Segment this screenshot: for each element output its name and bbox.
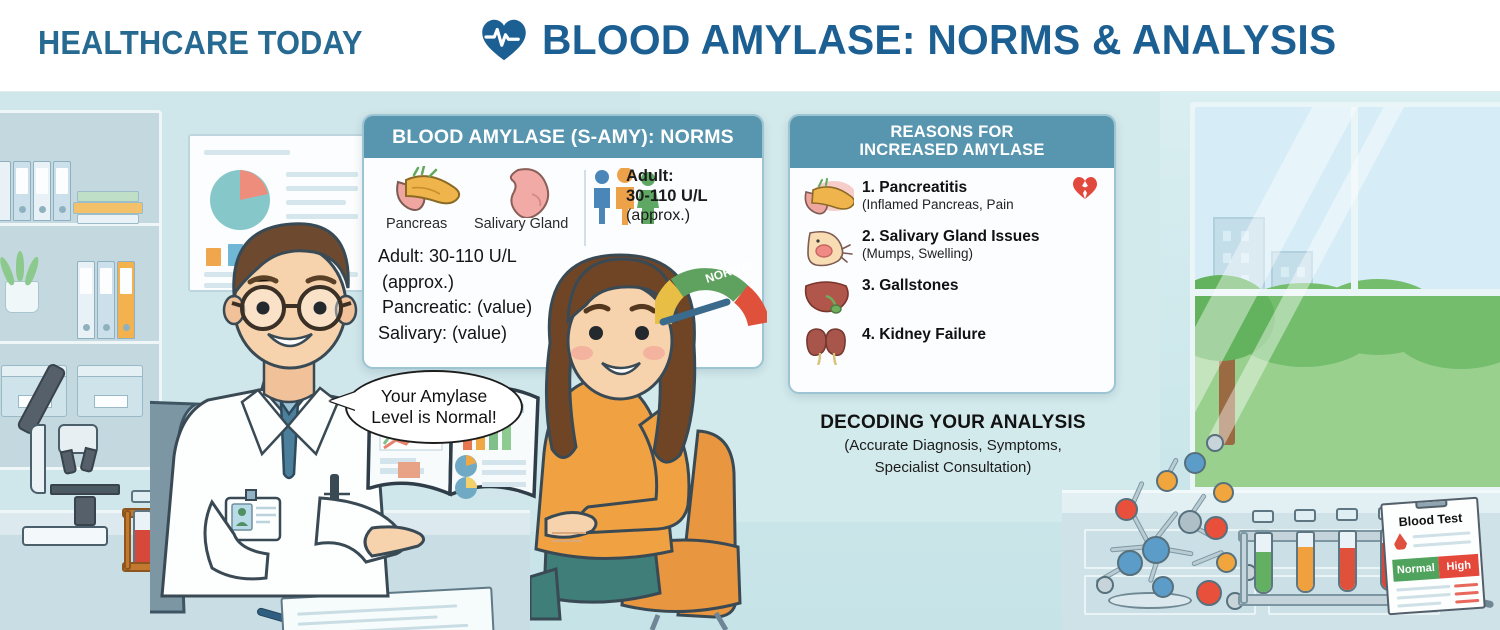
reason-item-pancreatitis: 1. Pancreatitis (Inflamed Pancreas, Pain [802, 178, 1104, 218]
amylase-gauge: NORMAL [655, 250, 767, 328]
page-title: BLOOD AMYLASE: NORMS & ANALYSIS [542, 16, 1336, 64]
binder [13, 161, 31, 221]
status-badge-high: High [1438, 554, 1479, 579]
page-header: HEALTHCARE TODAY BLOOD AMYLASE: NORMS & … [0, 0, 1500, 92]
panel-reasons-heading-line-2: INCREASED AMYLASE [790, 141, 1114, 159]
potted-plant [5, 281, 39, 313]
binder [53, 161, 71, 221]
illustration-scene: Blood Test Normal High [0, 92, 1500, 630]
blood-drop-icon [1393, 533, 1407, 551]
reason-item-salivary-gland: 2. Salivary Gland Issues (Mumps, Swellin… [802, 227, 1104, 267]
adult-range-note: (approx.) [626, 206, 708, 226]
clipboard-title: Blood Test [1383, 510, 1478, 531]
decoding-title: DECODING YOUR ANALYSIS [790, 412, 1116, 434]
storage-box [77, 365, 143, 417]
reason-title-text: Gallstones [879, 277, 958, 294]
broken-heart-icon [1072, 176, 1098, 200]
reason-item-gallstones: 3. Gallstones [802, 276, 1104, 316]
salivary-gland-icon [502, 166, 558, 218]
reason-title-text: Kidney Failure [879, 326, 986, 343]
reason-title-text: Pancreatitis [879, 179, 967, 196]
adult-range-title: Adult: [626, 166, 708, 186]
reason-num: 2. [862, 228, 875, 245]
reason-num: 3. [862, 277, 875, 294]
binder [77, 261, 95, 339]
reason-item-kidney-failure: 4. Kidney Failure [802, 325, 1104, 365]
reason-num: 1. [862, 179, 875, 196]
speech-bubble-line-1: Your Amylase [381, 386, 487, 407]
binder [97, 261, 115, 339]
reason-sub-text: (Inflamed Pancreas, Pain [862, 197, 1014, 213]
kidneys-icon [802, 325, 854, 365]
reason-title-text: Salivary Gland Issues [879, 228, 1039, 245]
main-title-group: BLOOD AMYLASE: NORMS & ANALYSIS [480, 16, 1361, 64]
speech-bubble-line-2: Level is Normal! [371, 407, 496, 428]
panel-divider [584, 170, 586, 246]
pancreas-inflamed-icon [802, 178, 854, 218]
panel-reasons-increased-amylase: REASONS FOR INCREASED AMYLASE 1. Pancrea… [788, 114, 1116, 394]
book [77, 214, 139, 224]
speech-bubble-tail [330, 392, 356, 410]
heart-pulse-icon [480, 17, 528, 63]
book [77, 191, 139, 202]
book [73, 202, 143, 214]
decoding-sub-line-1: (Accurate Diagnosis, Symptoms, [790, 437, 1116, 456]
head-mumps-icon [802, 227, 854, 267]
binder [0, 161, 11, 221]
adult-range-value: 30-110 U/L [626, 186, 708, 206]
window [1190, 102, 1500, 492]
liver-gallbladder-icon [802, 276, 854, 316]
panel-reasons-heading-line-1: REASONS FOR [790, 123, 1114, 141]
binder [117, 261, 135, 339]
organ-label-salivary: Salivary Gland [474, 216, 568, 232]
adult-range-block: Adult: 30-110 U/L (approx.) [626, 166, 708, 226]
decoding-analysis-block: DECODING YOUR ANALYSIS (Accurate Diagnos… [790, 412, 1116, 478]
reason-num: 4. [862, 326, 875, 343]
panel-reasons-heading: REASONS FOR INCREASED AMYLASE [790, 116, 1114, 168]
brand-title: HEALTHCARE TODAY [38, 24, 363, 62]
binder [33, 161, 51, 221]
speech-bubble: Your Amylase Level is Normal! [345, 370, 523, 444]
blood-test-clipboard: Blood Test Normal High [1380, 497, 1486, 616]
reason-sub-text: (Mumps, Swelling) [862, 246, 1040, 262]
status-badge-normal: Normal [1392, 557, 1439, 582]
decoding-sub-line-2: Specialist Consultation) [790, 459, 1116, 478]
panel-norms-heading: BLOOD AMYLASE (S-AMY): NORMS [364, 116, 762, 158]
